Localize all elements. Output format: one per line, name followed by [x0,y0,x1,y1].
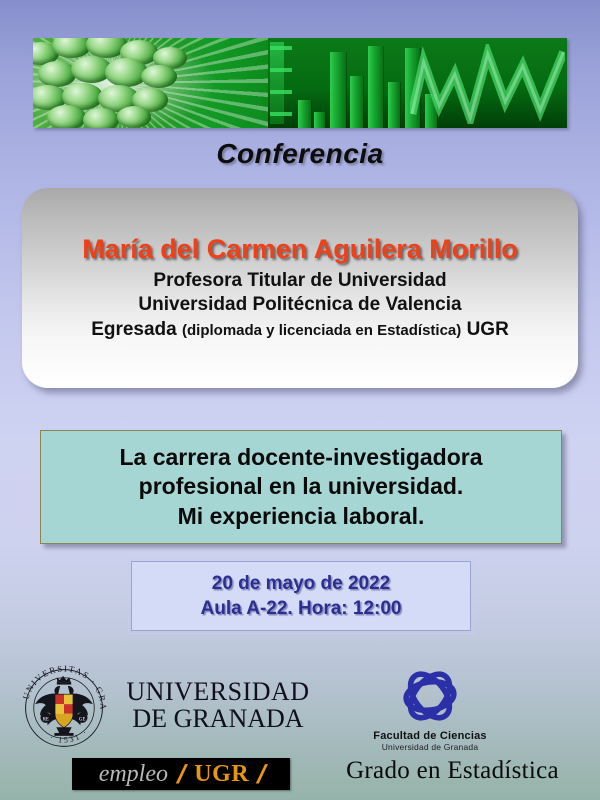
line-chart-glyph [410,44,565,124]
banner-image [33,38,567,128]
university-line-2: DE GRANADA [118,705,318,732]
speaker-position: Profesora Titular de Universidad [153,269,446,293]
svg-text:GE: GE [79,717,85,722]
faculty-university: Universidad de Granada [330,742,530,752]
speaker-institution: Universidad Politécnica de Valencia [138,293,461,317]
event-date: 20 de mayo de 2022 [212,571,391,596]
empleo-word: empleo [93,761,174,788]
empleo-ugr-word: UGR [189,761,254,788]
talk-title-line-2: profesional en la universidad. [139,472,464,501]
banner-chart-panel [268,38,567,128]
event-details-box: 20 de mayo de 2022 Aula A-22. Hora: 12:0… [131,561,471,631]
university-line-1: UNIVERSIDAD [118,678,318,705]
alumna-detail: (diplomada y licenciada en Estadística) [182,322,461,339]
page-title: Conferencia [0,138,600,170]
faculty-name: Facultad de Ciencias [330,730,530,742]
degree-label: Grado en Estadística [310,757,595,785]
talk-title-line-1: La carrera docente-investigadora [119,443,482,472]
university-wordmark: UNIVERSIDAD DE GRANADA [118,678,318,732]
ugr-coat-of-arms-icon: UNIVERSITAS · GRANATENSIS · 1531 · RE GE [16,660,112,756]
talk-title-line-3: Mi experiencia laboral. [178,502,425,531]
event-venue-time: Aula A-22. Hora: 12:00 [201,596,402,621]
alumna-prefix: Egresada [91,319,177,340]
green-spheres [33,38,273,128]
banner-bubbles-panel [33,38,273,128]
svg-text:RE: RE [43,717,49,722]
conference-poster: Conferencia María del Carmen Aguilera Mo… [0,0,600,800]
empleo-ugr-logo: empleo / UGR / [72,758,290,790]
talk-title-box: La carrera docente-investigadora profesi… [40,430,562,544]
atom-rings-icon [390,664,470,732]
speaker-name: María del Carmen Aguilera Morillo [82,234,518,265]
alumna-suffix: UGR [467,319,509,340]
speaker-card: María del Carmen Aguilera Morillo Profes… [22,188,578,388]
speaker-alumna-line: Egresada (diplomada y licenciada en Esta… [91,318,509,342]
